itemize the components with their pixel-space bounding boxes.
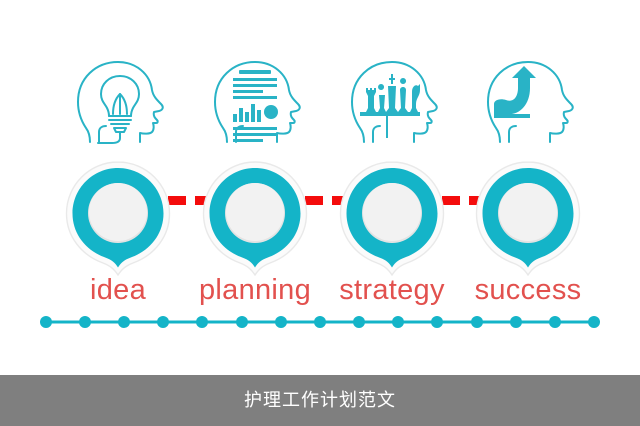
step-pin-success[interactable]	[472, 158, 584, 276]
head-growth-arrow-icon	[468, 52, 588, 148]
step-pin-idea[interactable]	[62, 158, 174, 276]
icon-row	[0, 52, 640, 148]
step-pin-strategy[interactable]	[336, 158, 448, 276]
caption-bar: 护理工作计划范文	[0, 375, 640, 426]
step-pin-planning[interactable]	[199, 158, 311, 276]
step-label-success: success	[438, 272, 618, 308]
label-row: idea planning strategy success	[0, 272, 640, 312]
head-report-chart-icon	[195, 52, 315, 148]
infographic-canvas: idea planning strategy success	[0, 0, 640, 426]
caption-text: 护理工作计划范文	[244, 375, 396, 426]
head-lightbulb-icon	[58, 52, 178, 148]
timeline-rail	[0, 313, 640, 331]
pin-row	[0, 158, 640, 278]
head-chess-icon	[332, 52, 452, 148]
